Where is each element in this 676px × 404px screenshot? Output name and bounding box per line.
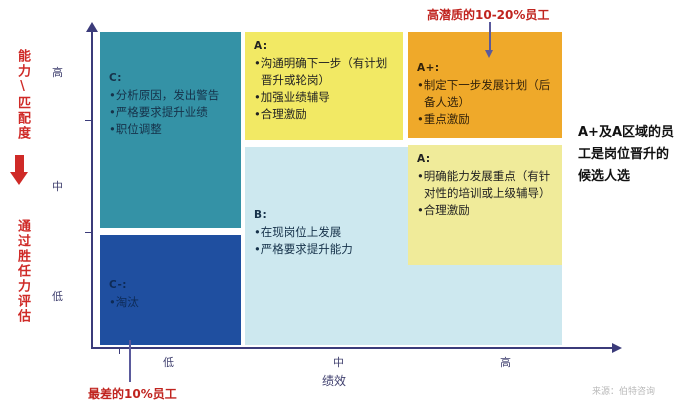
quadrant-block-a-top[interactable]: A: •沟通明确下一步（有计划晋升或轮岗） •加强业绩辅导 •合理激励: [245, 32, 403, 140]
x-axis-title: 绩效: [322, 372, 346, 389]
x-tick-label-low: 低: [163, 354, 174, 370]
block-code-a-top: A:: [254, 38, 397, 55]
annotation-side-note: A+及A区域的员工是岗位晋升的候选人选: [578, 122, 674, 188]
y-axis-line: [91, 30, 93, 348]
y-tick-label-low: 低: [52, 288, 63, 304]
y-axis-tick: [85, 232, 92, 233]
block-code-c: C:: [109, 70, 235, 87]
block-item: •严格要求提升能力: [254, 241, 404, 258]
x-axis-arrow-icon: [612, 343, 622, 353]
block-code-b: B:: [254, 207, 404, 224]
annotation-top-arrow-icon: [485, 50, 493, 58]
block-item: •加强业绩辅导: [254, 89, 397, 106]
block-item: •重点激励: [417, 111, 556, 128]
source-watermark: 来源：伯特咨询: [592, 384, 655, 397]
block-item: •沟通明确下一步（有计划晋升或轮岗）: [254, 55, 397, 89]
block-item: •合理激励: [254, 106, 397, 123]
matrix-diagram: 能力\匹配度 通过胜任力评估 高 中 低 低 中 高 绩效 B: •在现岗位上发…: [0, 0, 676, 404]
annotation-top-connector: [489, 22, 491, 52]
y-axis-title-bottom: 通过胜任力评估: [8, 196, 30, 346]
y-axis-tick: [85, 120, 92, 121]
block-item: •制定下一步发展计划（后备人选）: [417, 77, 556, 111]
block-item: •淘汰: [109, 294, 235, 311]
y-axis-arrow-icon: [86, 22, 98, 32]
block-item: •分析原因，发出警告: [109, 87, 235, 104]
block-item: •严格要求提升业绩: [109, 104, 235, 121]
annotation-bottom-note: 最差的10%员工: [88, 385, 177, 402]
block-item: •在现岗位上发展: [254, 224, 404, 241]
block-item: •明确能力发展重点（有针对性的培训或上级辅导）: [417, 168, 556, 202]
annotation-top-note: 高潜质的10-20%员工: [427, 6, 549, 23]
x-axis-tick: [119, 347, 120, 354]
quadrant-block-c[interactable]: C: •分析原因，发出警告 •严格要求提升业绩 •职位调整: [100, 32, 241, 228]
block-code-a-plus: A+:: [417, 60, 556, 77]
block-item: •合理激励: [417, 202, 556, 219]
block-item: •职位调整: [109, 121, 235, 138]
block-code-a-mid: A:: [417, 151, 556, 168]
y-axis-title-top: 能力\匹配度: [8, 40, 30, 150]
quadrant-block-a-mid[interactable]: A: •明确能力发展重点（有针对性的培训或上级辅导） •合理激励: [408, 145, 562, 265]
annotation-bottom-connector: [129, 340, 131, 382]
x-axis-line: [91, 347, 618, 349]
y-tick-label-high: 高: [52, 64, 63, 80]
block-code-c-minus: C-:: [109, 277, 235, 294]
quadrant-block-c-minus[interactable]: C-: •淘汰: [100, 235, 241, 345]
y-tick-label-mid: 中: [52, 178, 63, 194]
x-tick-label-mid: 中: [333, 354, 344, 370]
x-tick-label-high: 高: [500, 354, 511, 370]
quadrant-block-a-plus[interactable]: A+: •制定下一步发展计划（后备人选） •重点激励: [408, 32, 562, 138]
